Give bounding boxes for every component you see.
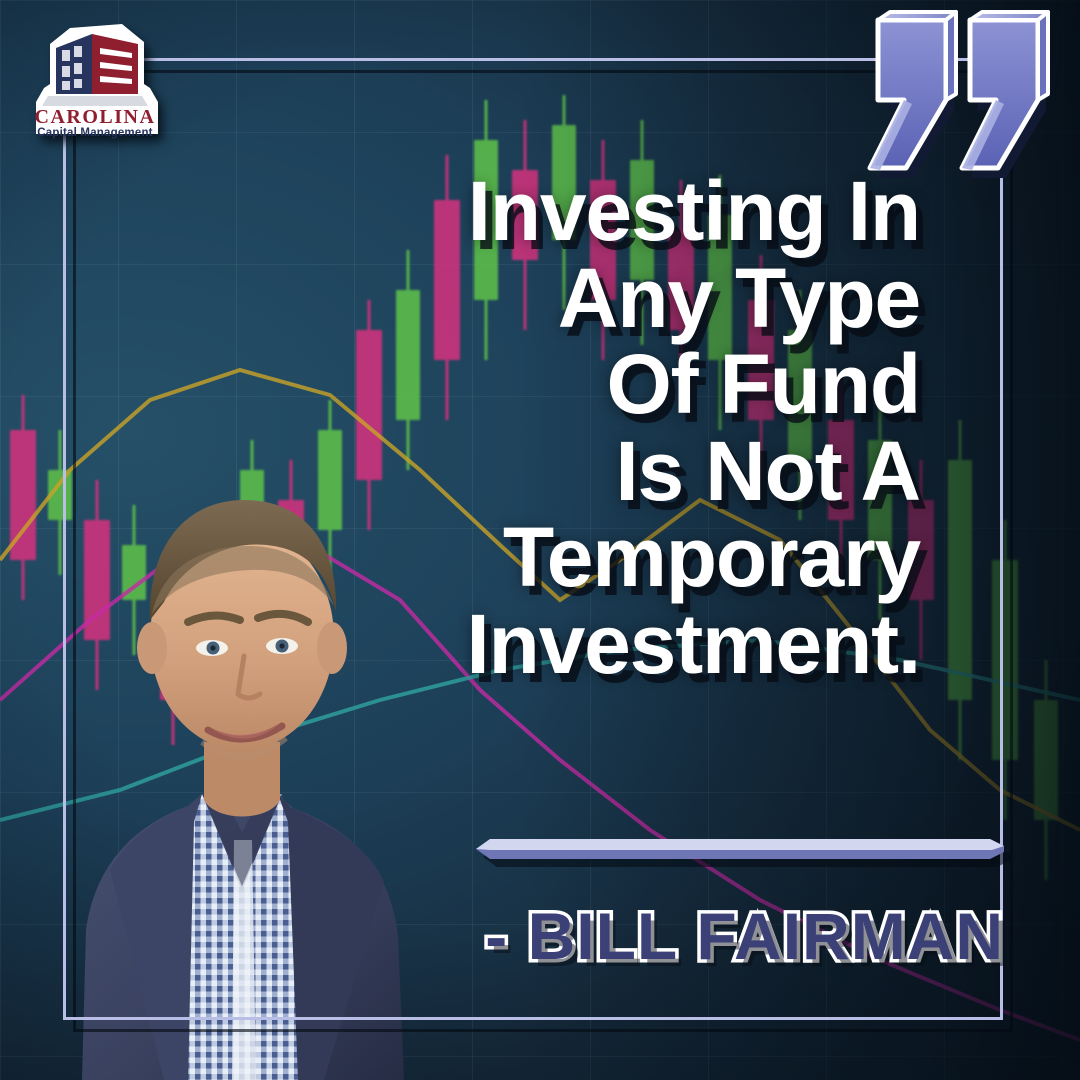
attribution-text: - BILL FAIRMAN <box>330 898 1004 974</box>
logo-primary-text: CAROLINA <box>35 106 156 128</box>
quote-text: Investing In Any Type Of Fund Is Not A T… <box>330 168 920 687</box>
carolina-capital-management-logo[interactable]: CAROLINA Capital Management <box>26 22 166 140</box>
attribution-divider <box>476 838 1004 860</box>
logo-secondary-text: Capital Management <box>37 127 152 139</box>
quote-graphic-canvas: CAROLINA Capital Management <box>0 0 1080 1080</box>
